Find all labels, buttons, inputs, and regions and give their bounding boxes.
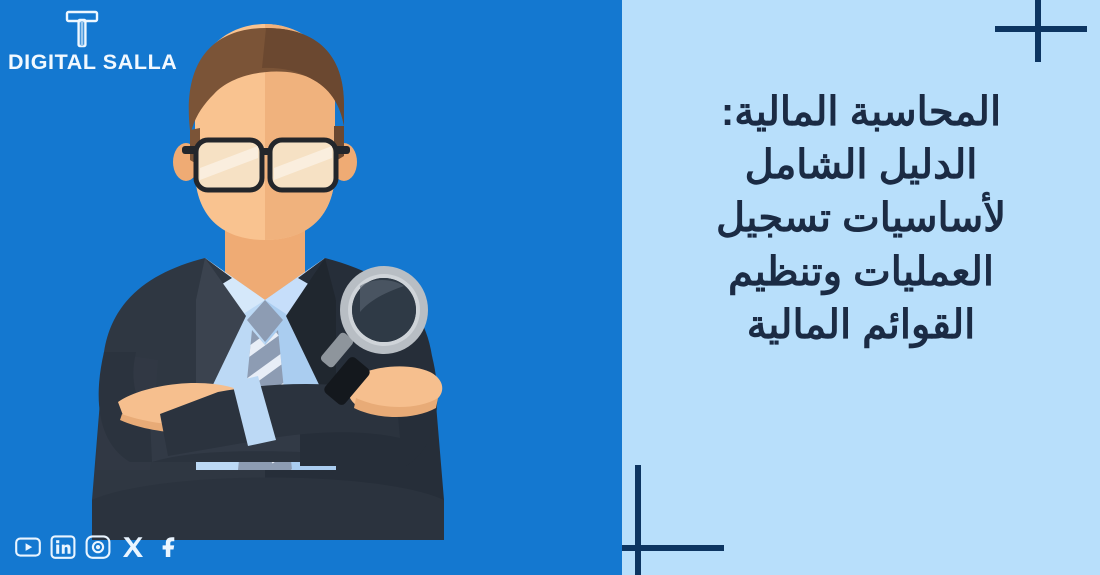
- x-twitter-icon[interactable]: [119, 533, 147, 561]
- linkedin-icon[interactable]: [49, 533, 77, 561]
- left-panel: DIGITAL SALLA: [0, 0, 622, 575]
- instagram-icon[interactable]: [84, 533, 112, 561]
- headline-title: المحاسبة المالية: الدليل الشامل لأساسيات…: [644, 86, 1078, 352]
- banner-canvas: DIGITAL SALLA: [0, 0, 1100, 575]
- facebook-icon[interactable]: [154, 533, 182, 561]
- cross-vertical-bar: [1035, 0, 1041, 62]
- t-monogram-icon: [60, 8, 104, 50]
- headline-line-5: القوائم المالية: [644, 299, 1078, 352]
- cross-vertical-bar: [635, 465, 641, 575]
- headline-line-3: لأساسيات تسجيل: [644, 192, 1078, 245]
- brand-name: DIGITAL SALLA: [8, 52, 156, 74]
- right-panel: المحاسبة المالية: الدليل الشامل لأساسيات…: [622, 0, 1100, 575]
- decor-cross-bottom-left: [622, 465, 732, 575]
- cross-horizontal-bar: [995, 26, 1087, 32]
- social-links: [14, 533, 182, 561]
- headline-line-4: العمليات وتنظيم: [644, 246, 1078, 299]
- businessman-illustration: [0, 0, 622, 575]
- youtube-icon[interactable]: [14, 533, 42, 561]
- headline-line-1: المحاسبة المالية:: [644, 86, 1078, 139]
- headline-line-2: الدليل الشامل: [644, 139, 1078, 192]
- brand-logo[interactable]: DIGITAL SALLA: [8, 8, 156, 74]
- decor-cross-top-right: [995, 0, 1100, 62]
